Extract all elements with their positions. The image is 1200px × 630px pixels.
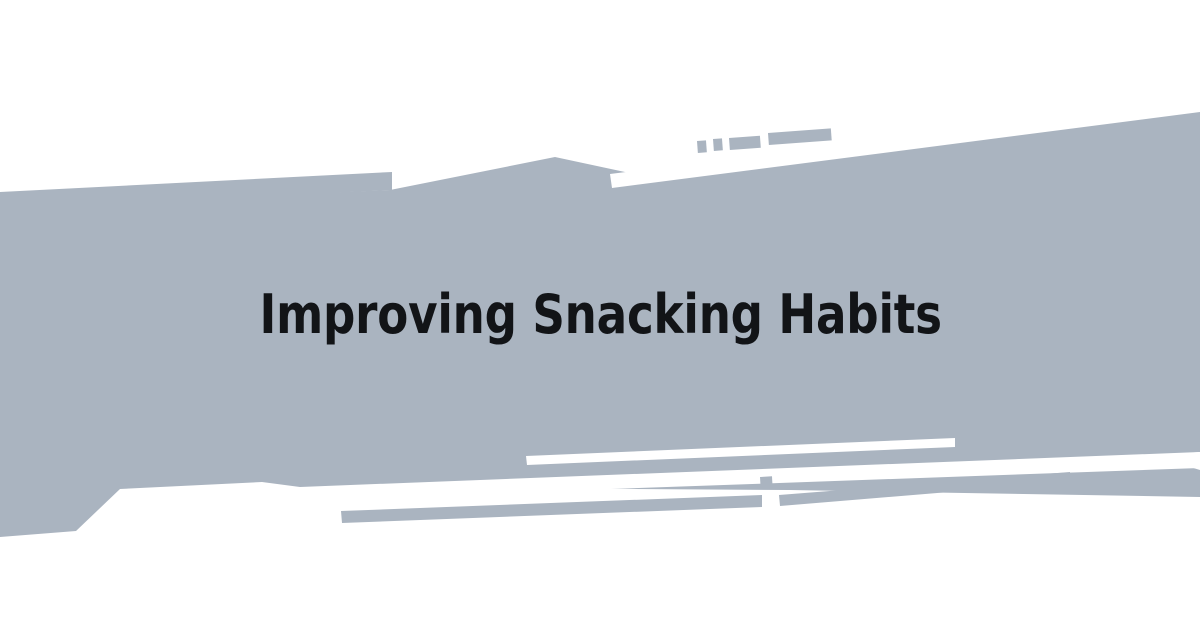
banner-card: Improving Snacking Habits — [0, 0, 1200, 630]
gray-dot-bottom — [760, 476, 773, 488]
banner-background-art — [0, 0, 1200, 630]
dash-mark-2 — [713, 138, 723, 151]
dash-mark-3 — [729, 136, 761, 150]
dash-mark-1 — [697, 140, 707, 153]
